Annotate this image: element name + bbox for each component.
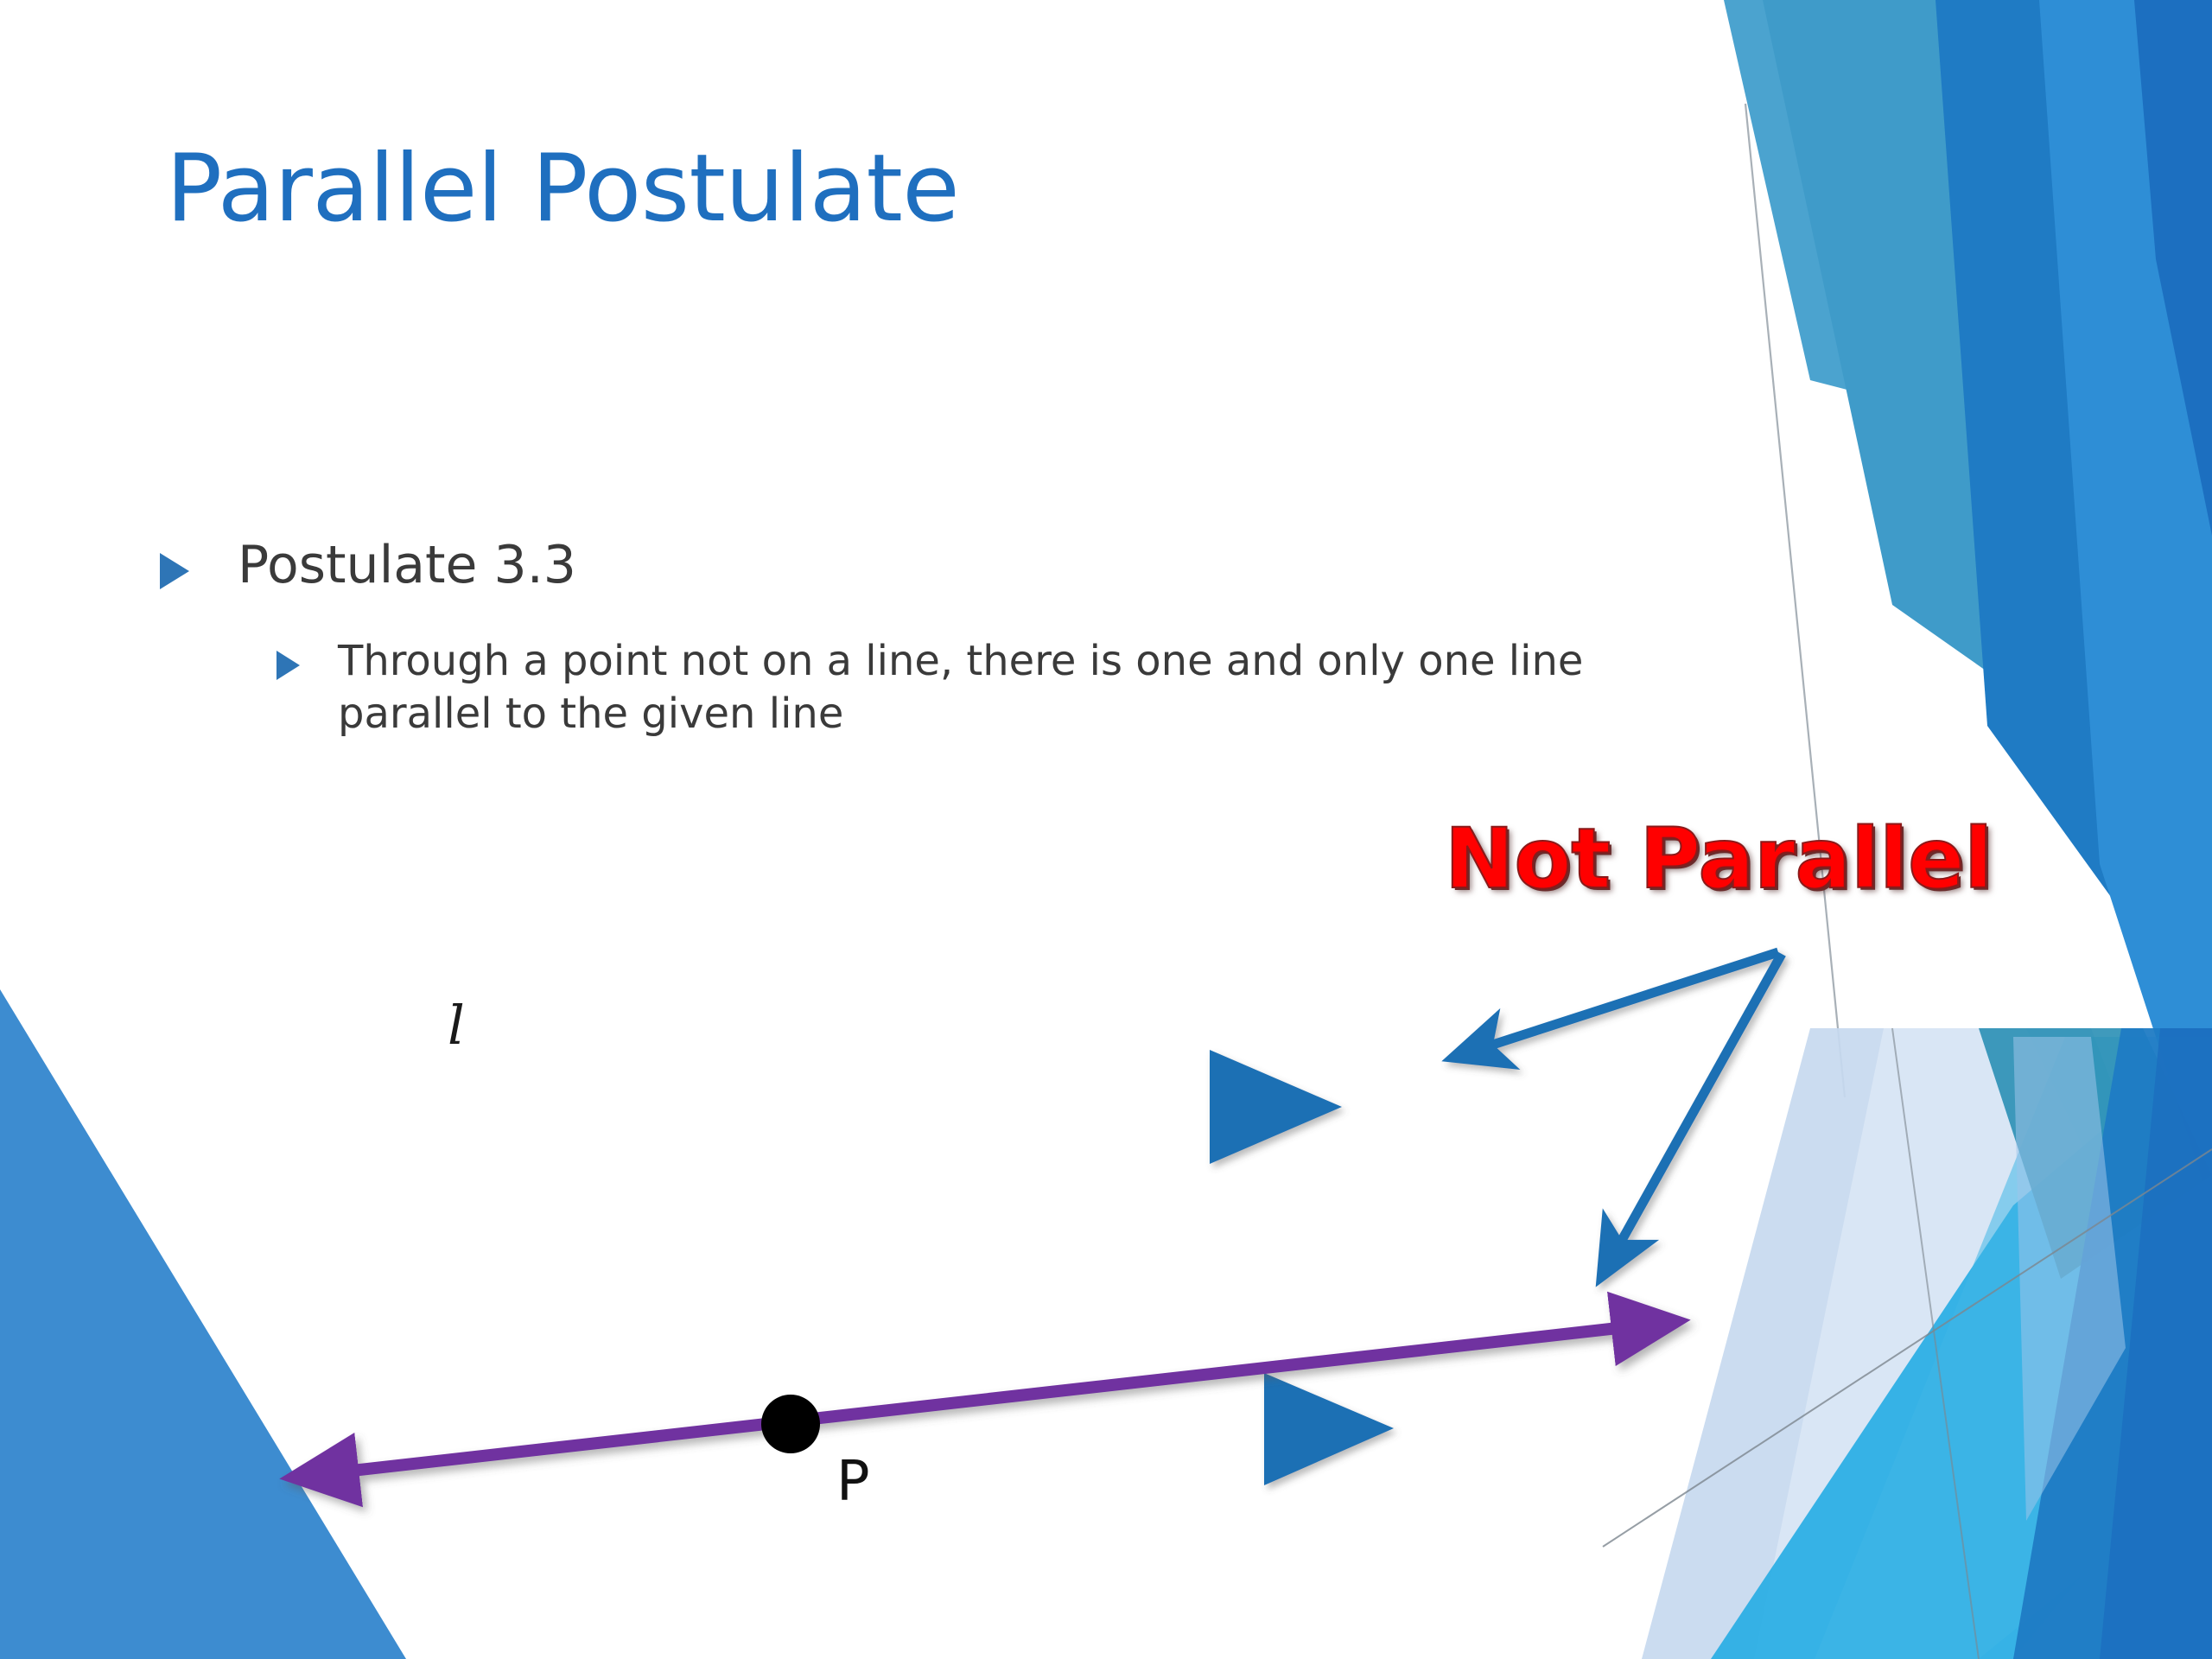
bullet-level2-text: Through a point not on a line, there is … — [338, 635, 1651, 741]
bullet-item-level1: Postulate 3.3 — [160, 536, 576, 595]
triangle-bullet-icon — [276, 651, 300, 680]
triangle-bullet-icon — [160, 553, 189, 589]
line-l-label: l — [448, 994, 465, 1057]
purple-line — [321, 1325, 1649, 1474]
not-parallel-annotation: Not Parallel — [1445, 810, 1993, 907]
bullet-level1-text: Postulate 3.3 — [238, 536, 576, 595]
slide-title: Parallel Postulate — [166, 138, 959, 241]
point-p-dot — [761, 1395, 820, 1453]
red-line-direction-marker — [1264, 1373, 1394, 1485]
line-l-direction-marker — [1210, 1050, 1342, 1164]
slide-canvas: Parallel Postulate Postulate 3.3 Through… — [0, 0, 2212, 1659]
bullet-item-level2: Through a point not on a line, there is … — [276, 635, 1745, 741]
point-p-label: P — [836, 1450, 870, 1514]
